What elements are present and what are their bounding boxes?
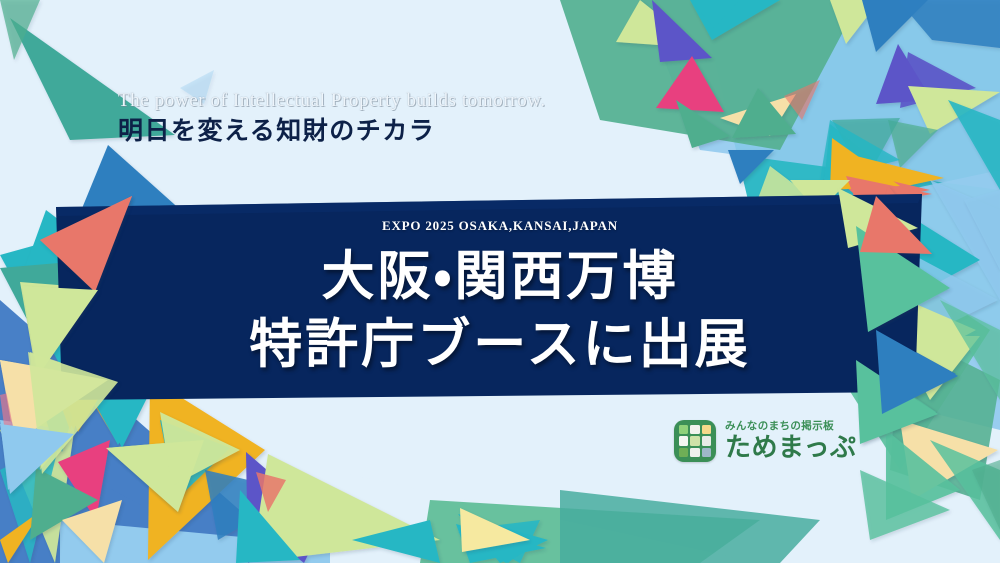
logo-name: ためまっぷ	[725, 435, 856, 461]
tagline-english: The power of Intellectual Property build…	[118, 90, 546, 112]
banner-headline-line1: 大阪・関西万博	[321, 246, 678, 307]
tagline-block: The power of Intellectual Property build…	[118, 90, 546, 146]
map-grid-icon	[674, 420, 716, 462]
poster-canvas: The power of Intellectual Property build…	[0, 0, 1000, 563]
tamemap-logo[interactable]: みんなのまちの掲示板 ためまっぷ	[674, 420, 856, 462]
logo-text-block: みんなのまちの掲示板 ためまっぷ	[725, 421, 856, 461]
banner-headline-line2: 特許庁ブースに出展	[0, 311, 1000, 379]
banner-headline: 大阪・関西万博 特許庁ブースに出展	[0, 243, 1000, 379]
banner-kicker: EXPO 2025 OSAKA,KANSAI,JAPAN	[0, 218, 1000, 234]
logo-tagline: みんなのまちの掲示板	[725, 421, 856, 432]
tagline-japanese: 明日を変える知財のチカラ	[118, 116, 546, 146]
